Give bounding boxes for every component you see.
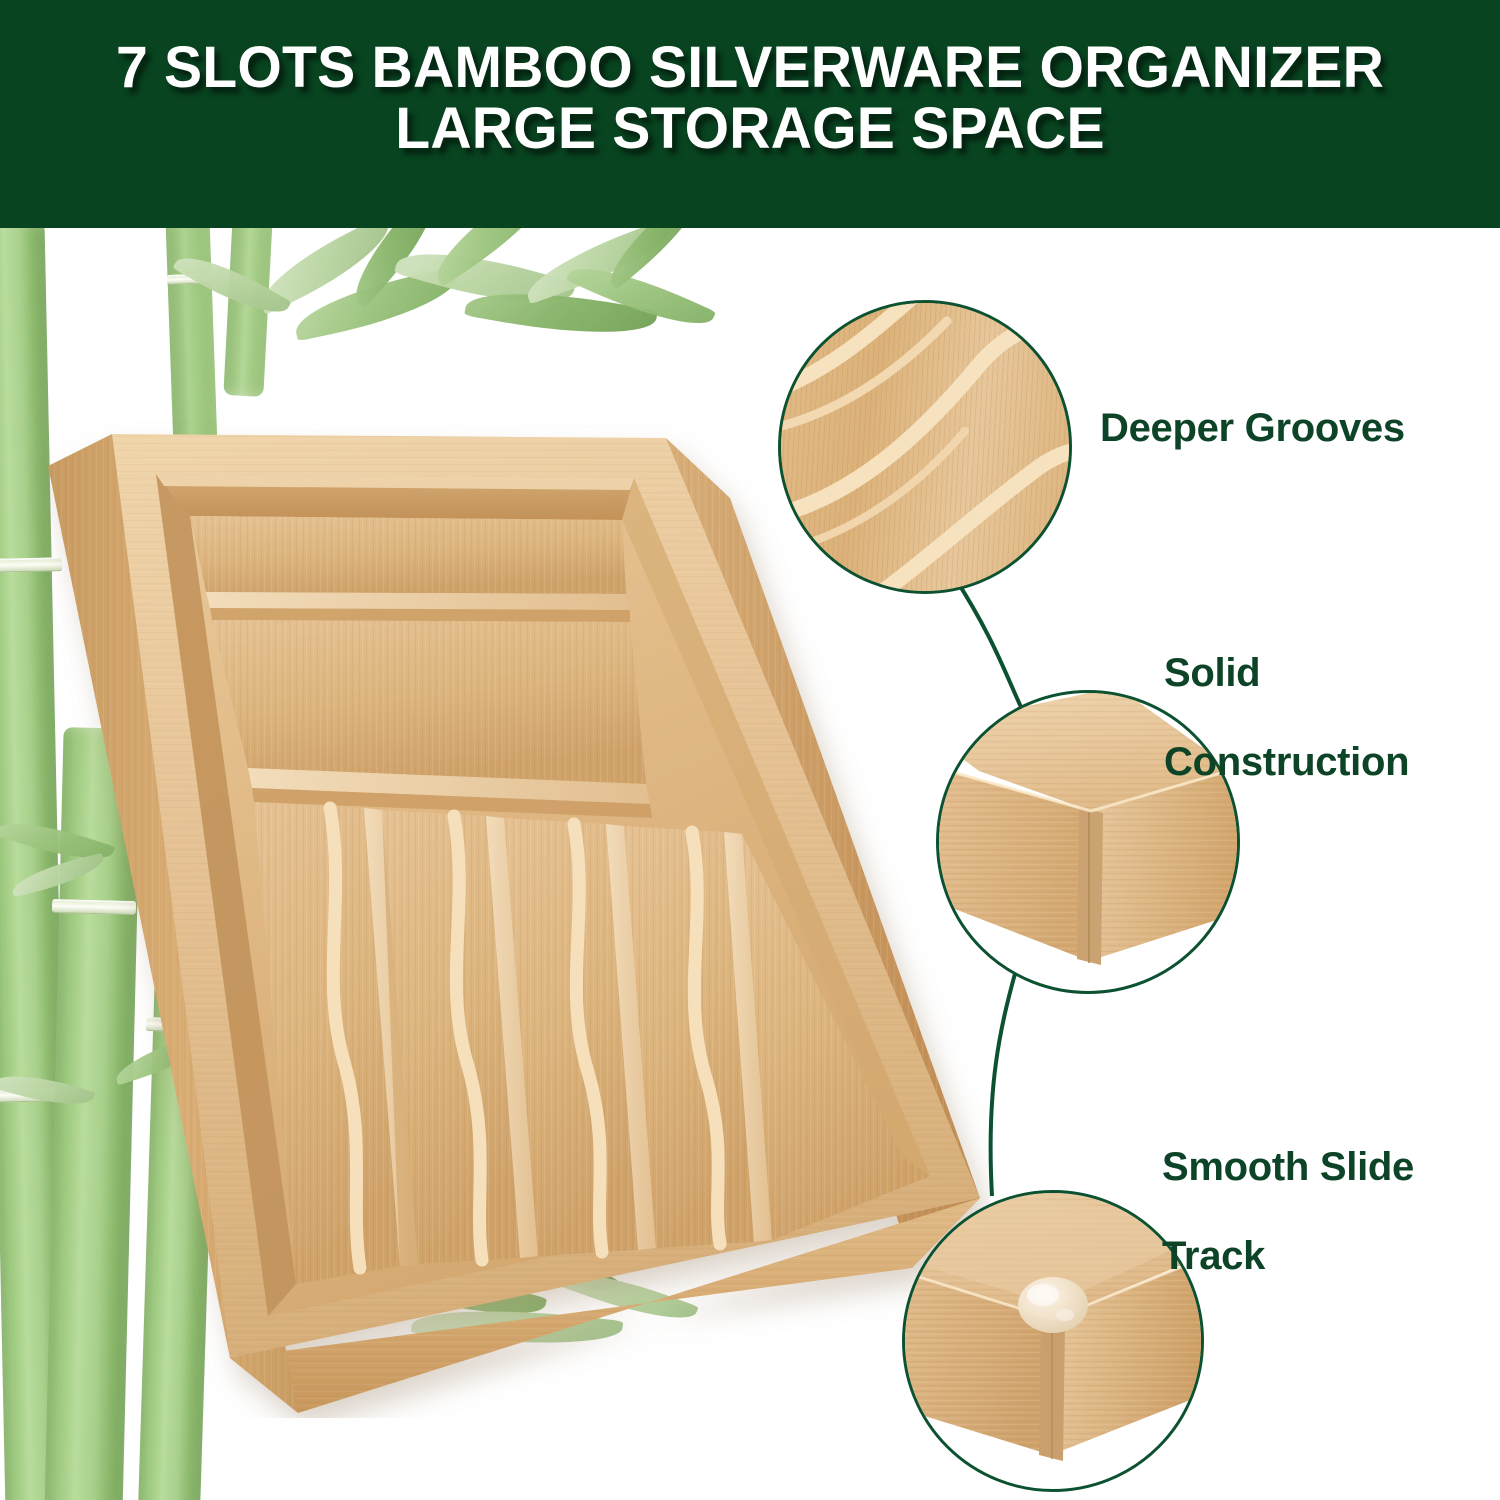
page-title: 7 SLOTS BAMBOO SILVERWARE ORGANIZER LARG… xyxy=(11,38,1489,160)
groove-stripe xyxy=(867,447,1069,591)
title-line-1: 7 SLOTS BAMBOO SILVERWARE ORGANIZER xyxy=(11,38,1489,99)
callout-label-solid-construction: Solid Construction xyxy=(1164,606,1409,830)
header-banner: 7 SLOTS BAMBOO SILVERWARE ORGANIZER LARG… xyxy=(0,0,1500,228)
connector-line-2-3 xyxy=(991,970,1016,1196)
smooth-slide-track-detail-photo xyxy=(905,1193,1201,1489)
product-infographic: 7 SLOTS BAMBOO SILVERWARE ORGANIZER LARG… xyxy=(0,0,1500,1500)
solid-construction-line-2: Construction xyxy=(1164,740,1409,785)
callout-label-deeper-grooves: Deeper Grooves xyxy=(1100,406,1405,451)
callout-circle-smooth-slide-track xyxy=(902,1190,1204,1492)
smooth-slide-track-line-2: Track xyxy=(1162,1234,1414,1279)
groove-stripe xyxy=(781,431,965,553)
rubber-bumper-foot xyxy=(1018,1277,1088,1333)
content-stage: Deeper Grooves xyxy=(0,228,1500,1500)
callout-circle-deeper-grooves xyxy=(778,300,1072,594)
tray-divider-1 xyxy=(206,592,630,610)
groove-stripe xyxy=(781,303,913,395)
deeper-grooves-detail-photo xyxy=(781,303,1069,591)
solid-construction-line-1: Solid xyxy=(1164,651,1409,696)
callout-label-smooth-slide-track: Smooth Slide Track xyxy=(1162,1100,1414,1324)
smooth-slide-track-line-1: Smooth Slide xyxy=(1162,1145,1414,1190)
title-line-2: LARGE STORAGE SPACE xyxy=(11,99,1489,160)
